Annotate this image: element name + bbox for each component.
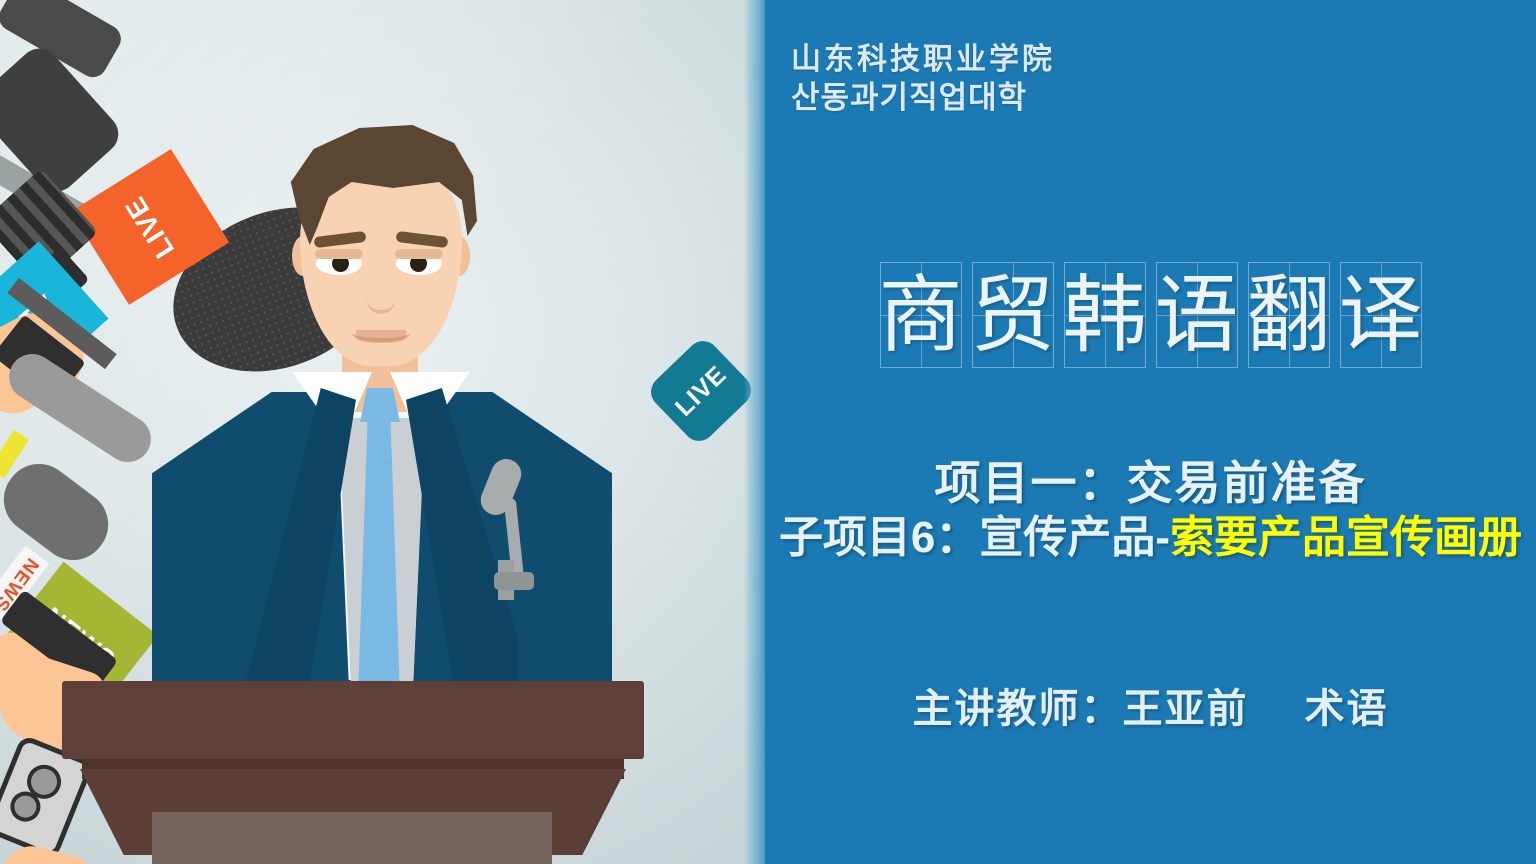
course-title: 商 贸 韩 语 翻 译	[765, 262, 1536, 368]
title-char-cell: 译	[1340, 262, 1422, 368]
title-char: 语	[1155, 273, 1239, 357]
title-illustration: LIVE TV NEWS NEWS LIVE	[0, 0, 762, 864]
presenter-name: 王亚前	[1123, 687, 1249, 731]
speaker-eyelid-right	[395, 249, 443, 259]
organization-name-kr: 산동과기직업대학	[791, 79, 1231, 117]
title-char-cell: 贸	[972, 262, 1054, 368]
title-char-cell: 商	[880, 262, 962, 368]
subtitle-line-2-highlight: 索要产品宣传画册	[1170, 513, 1522, 562]
subtitle-line-2: 子项目6：宣传产品-索要产品宣传画册	[765, 511, 1536, 565]
podium-top	[62, 681, 644, 759]
speaker-eyelid-left	[315, 249, 363, 259]
presenter-topic: 术语	[1305, 687, 1389, 731]
title-char: 商	[879, 273, 963, 357]
organization-name-cn: 山东科技职业学院	[791, 42, 1231, 79]
title-char: 贸	[971, 273, 1055, 357]
title-panel: 山东科技职业学院 산동과기직업대학 商 贸 韩 语 翻 译 项目一：交易前准备 …	[765, 0, 1536, 864]
title-char: 韩	[1063, 273, 1147, 357]
presenter-label: 主讲教师：	[913, 687, 1123, 731]
subtitle-line-1: 项目一：交易前准备	[765, 455, 1536, 511]
podium-column	[152, 812, 552, 864]
title-char-cell: 韩	[1064, 262, 1146, 368]
title-char-cell: 语	[1156, 262, 1238, 368]
speaker-nose	[366, 282, 396, 314]
presentation-slide: LIVE TV NEWS NEWS LIVE	[0, 0, 1536, 864]
title-char: 翻	[1247, 273, 1331, 357]
title-char: 译	[1339, 273, 1423, 357]
mic-flag-live-teal: LIVE	[644, 334, 757, 447]
title-char-cell: 翻	[1248, 262, 1330, 368]
subtitle-block: 项目一：交易前准备 子项目6：宣传产品-索要产品宣传画册	[765, 455, 1536, 565]
organization-name: 山东科技职业学院 산동과기직업대학	[791, 42, 1231, 116]
speaker-mouth	[352, 324, 410, 342]
podium-microphone-base	[494, 572, 534, 590]
subtitle-line-2-prefix: 子项目6：宣传产品-	[779, 513, 1170, 562]
presenter-line: 主讲教师：王亚前术语	[765, 676, 1536, 734]
